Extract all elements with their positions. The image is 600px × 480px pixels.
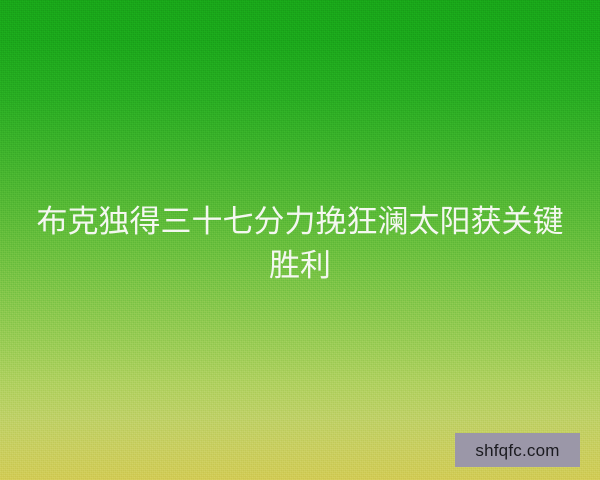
page-title: 布克独得三十七分力挽狂澜太阳获关键胜利 (22, 200, 578, 288)
cover-canvas: 布克独得三十七分力挽狂澜太阳获关键胜利 shfqfc.com (0, 0, 600, 480)
watermark-badge: shfqfc.com (455, 433, 580, 467)
watermark-domain-label: shfqfc.com (475, 442, 559, 459)
